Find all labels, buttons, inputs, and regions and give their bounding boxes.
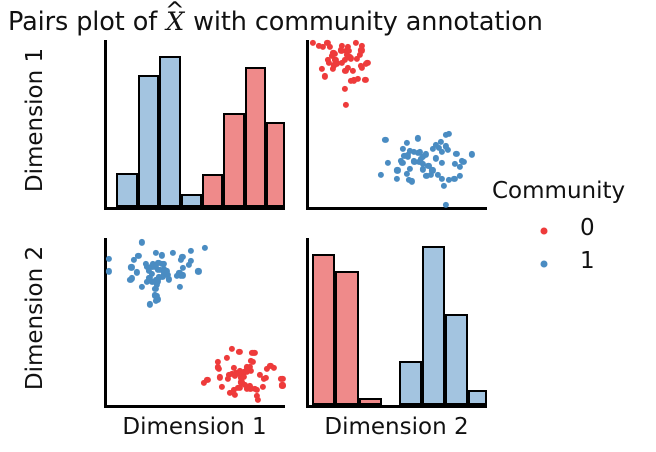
scatter-point [404, 140, 410, 146]
title-prefix: Pairs plot of [8, 7, 165, 37]
scatter-point [170, 250, 176, 256]
scatter-point [139, 283, 145, 289]
scatter-point [249, 359, 255, 365]
scatter-point [399, 160, 405, 166]
histogram-bar [422, 246, 445, 406]
y-axis-label-dimension2: Dimension 2 [22, 233, 48, 403]
scatter-point [457, 173, 463, 179]
scatter-point [342, 86, 348, 92]
scatter-point [177, 283, 183, 289]
plot-area [309, 238, 487, 405]
plot-area [309, 40, 487, 207]
scatter-point [195, 268, 201, 274]
title-suffix: with community annotation [185, 7, 543, 37]
scatter-point [446, 176, 452, 182]
scatter-point [158, 252, 164, 258]
scatter-point [343, 102, 349, 108]
plot-area [107, 238, 285, 405]
histogram-bar [445, 314, 468, 405]
scatter-point [129, 275, 135, 281]
histogram-bar [335, 271, 358, 405]
legend-entry-1[interactable]: 1 [492, 251, 656, 284]
scatter-point [319, 66, 325, 72]
scatter-point [394, 176, 400, 182]
scatter-point [243, 369, 249, 375]
histogram-bar [399, 361, 422, 405]
scatter-point [264, 366, 270, 372]
histogram-bar [468, 390, 487, 406]
legend-title: Community [492, 178, 656, 205]
scatter-point [219, 384, 225, 390]
x-axis-label-dimension2: Dimension 2 [306, 414, 487, 440]
histogram-bar [312, 254, 335, 406]
legend-label-community-0: 0 [580, 215, 595, 242]
scatter-point [443, 202, 449, 208]
title-variable-xhat: ^X [165, 7, 185, 37]
histogram-bar [245, 67, 266, 208]
x-axis-label-dimension1: Dimension 1 [104, 414, 285, 440]
scatter-point [460, 159, 466, 165]
scatter-point [409, 178, 415, 184]
scatter-point [152, 286, 158, 292]
legend-marker-community-0 [541, 228, 548, 235]
scatter-point [350, 68, 356, 74]
scatter-point [228, 346, 234, 352]
histogram-bars [107, 40, 285, 207]
scatter-point [407, 165, 413, 171]
scatter-point [415, 135, 421, 141]
scatter-point [439, 148, 445, 154]
scatter-point [254, 386, 260, 392]
axis-spine-bottom [306, 405, 487, 408]
circumflex-accent-icon: ^ [165, 0, 185, 26]
scatter-point [260, 384, 266, 390]
histogram-bar [223, 113, 244, 208]
scatter-point [188, 247, 194, 253]
scatter-point [331, 62, 337, 68]
panel-dimension1-histogram [104, 40, 285, 210]
scatter-point [279, 383, 285, 389]
scatter-point [204, 377, 210, 383]
scatter-point [236, 349, 242, 355]
scatter-point [321, 73, 327, 79]
scatter-point [179, 254, 185, 260]
scatter-point [225, 376, 231, 382]
scatter-point [439, 176, 445, 182]
legend-label-community-1: 1 [580, 248, 595, 275]
scatter-point [271, 365, 277, 371]
scatter-point [224, 355, 230, 361]
scatter-point [399, 145, 405, 151]
scatter-point [446, 131, 452, 137]
scatter-point [469, 151, 475, 157]
scatter-point [134, 269, 140, 275]
scatter-point [232, 392, 238, 398]
scatter-point [420, 166, 426, 172]
y-axis-label-dimension1: Dimension 1 [22, 35, 48, 205]
scatter-point [453, 150, 459, 156]
scatter-point [327, 43, 333, 49]
scatter-point [394, 167, 400, 173]
histogram-bar [138, 75, 159, 207]
legend: Community 0 1 [492, 178, 656, 284]
scatter-point [128, 264, 134, 270]
panel-dimension1-vs-dimension2-scatter [306, 40, 487, 210]
scatter-point [378, 172, 384, 178]
scatter-point [217, 374, 223, 380]
scatter-point [202, 245, 208, 251]
axis-spine-bottom [104, 207, 285, 210]
scatter-point [106, 268, 112, 274]
histogram-bar [359, 398, 382, 406]
scatter-point [430, 146, 436, 152]
scatter-point [357, 52, 363, 58]
histogram-bar [266, 122, 285, 207]
scatter-point [146, 301, 152, 307]
scatter-points [309, 40, 487, 207]
legend-marker-community-1 [541, 261, 548, 268]
histogram-bar [159, 56, 180, 208]
histogram-bar [116, 173, 137, 207]
histogram-bar [202, 174, 223, 207]
scatter-point [261, 376, 267, 382]
scatter-point [385, 160, 391, 166]
scatter-point [310, 39, 316, 45]
panel-dimension2-histogram [306, 238, 487, 408]
scatter-point [382, 137, 388, 143]
axis-spine-bottom [306, 207, 487, 210]
panel-dimension2-vs-dimension1-scatter [104, 238, 285, 408]
scatter-point [106, 255, 112, 261]
scatter-point [130, 257, 136, 263]
page-title: Pairs plot of ^X with community annotati… [8, 6, 656, 38]
legend-entry-0[interactable]: 0 [492, 218, 656, 251]
plot-area [107, 40, 285, 207]
scatter-point [155, 296, 161, 302]
scatter-point [420, 154, 426, 160]
axis-spine-bottom [104, 405, 285, 408]
scatter-point [362, 77, 368, 83]
scatter-point [139, 239, 145, 245]
scatter-point [441, 182, 447, 188]
histogram-bars [309, 238, 487, 405]
scatter-point [186, 262, 192, 268]
scatter-points [107, 238, 285, 405]
scatter-point [439, 160, 445, 166]
histogram-bar [181, 194, 202, 207]
